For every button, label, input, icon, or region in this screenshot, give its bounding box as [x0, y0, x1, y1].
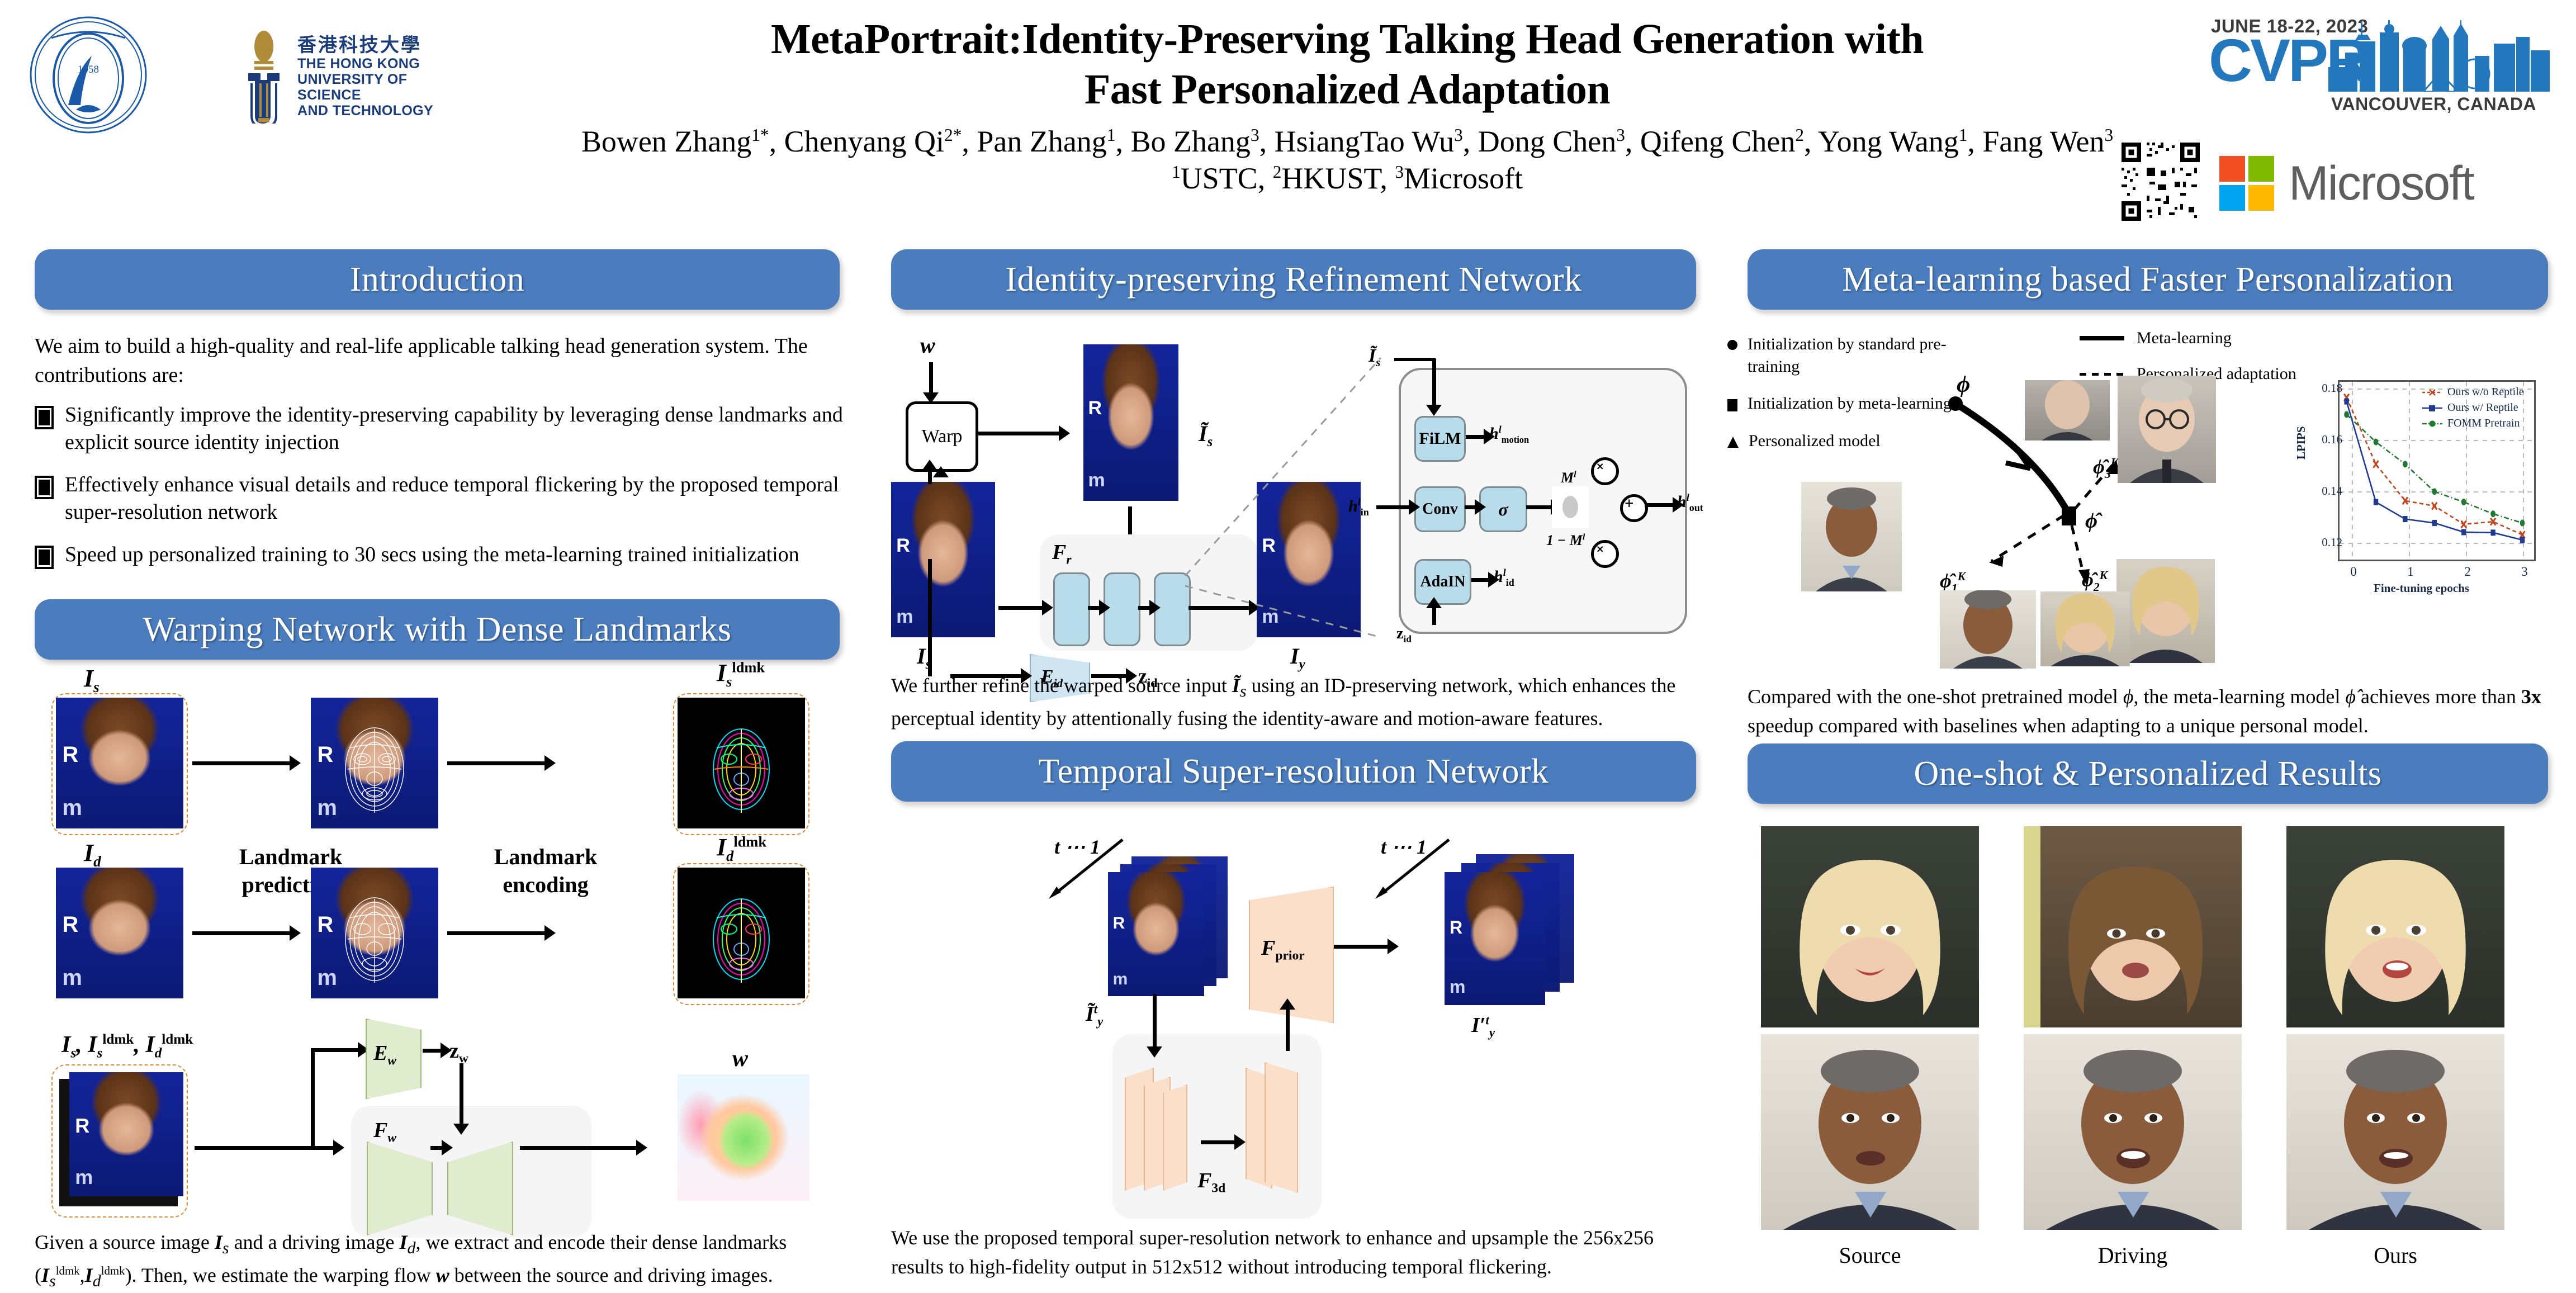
- arrow-F3d-into-Fprior: [1286, 1008, 1290, 1051]
- result-ours-1: [2286, 826, 2504, 1027]
- section-title-introduction-label: Introduction: [350, 260, 525, 300]
- photo-watermark-r: R: [75, 1114, 89, 1138]
- driving-landmark-encoding-image: [678, 868, 805, 998]
- temporal-caption: We use the proposed temporal super-resol…: [891, 1223, 1696, 1281]
- qr-code[interactable]: [2119, 140, 2203, 224]
- lpips-chart: 0.18 0.16 0.14 0.12 LPIPS 0 1 2 3 Fine-t…: [2290, 376, 2539, 595]
- arrow-Fprior-to-output: [1334, 945, 1389, 949]
- label-phi: ϕ: [1957, 371, 1970, 398]
- chart-legend-label-1: Ours w/ Reptile: [2447, 401, 2518, 414]
- arrow-zw-into-decoder: [460, 1063, 463, 1125]
- photo-watermark-r: R: [1450, 917, 1462, 938]
- meta-photo-obama-bottom: [1940, 590, 2036, 669]
- title-block: MetaPortrait:Identity-Preserving Talking…: [537, 15, 2158, 197]
- arrow-source-to-landmark: [192, 761, 291, 765]
- chart-legend-label-0: Ours w/o Reptile: [2447, 386, 2524, 399]
- photo-watermark-m: m: [62, 795, 82, 821]
- sigma-block: σ: [1479, 486, 1527, 532]
- arrow-block2-block3: [1138, 606, 1150, 610]
- warping-label-Is-ldmk: Isldmk: [717, 659, 765, 690]
- microsoft-logo: Microsoft: [2219, 150, 2555, 217]
- source-landmark-overlay-photo: R m: [311, 698, 438, 828]
- detail-label-Is-tilde: Ĩs: [1368, 345, 1380, 370]
- arrow-w-to-warp: [929, 362, 933, 394]
- meta-photo-blonde-right: [2116, 559, 2215, 663]
- hkust-english-line-3: AND TECHNOLOGY: [297, 103, 464, 119]
- affiliation-list: 1USTC, 2HKUST, 3Microsoft: [537, 160, 2158, 197]
- arrow-landmark-to-encoded: [447, 931, 546, 935]
- refine-conv-block-1: [1053, 572, 1090, 646]
- label-Fr: Fr: [1052, 540, 1072, 568]
- output-frame-1: R m: [1445, 872, 1545, 1005]
- list-item: Significantly improve the identity-prese…: [35, 401, 845, 457]
- detail-label-zid: zid: [1396, 625, 1412, 645]
- label-phi-2: ϕ̂2K: [2082, 568, 2108, 594]
- photo-watermark-m: m: [896, 606, 913, 628]
- x-tick-3: 3: [2513, 565, 2536, 579]
- result-obama-source: [1761, 1034, 1979, 1230]
- label-mask-M: Ml: [1561, 470, 1576, 486]
- hkust-english-line-2: UNIVERSITY OF SCIENCE: [297, 72, 464, 103]
- input-stack-front-photo: R m: [69, 1072, 183, 1196]
- label-t-seq-left: t ⋯ 1: [1054, 835, 1100, 859]
- label-one-minus-M: 1 − Ml: [1546, 532, 1585, 549]
- hkust-logo-text: 香港科技大學 THE HONG KONG UNIVERSITY OF SCIEN…: [297, 35, 464, 119]
- chart-legend-item-2: FOMM Pretrain: [2422, 417, 2520, 430]
- chart-legend-item-0: Ours w/o Reptile: [2422, 386, 2524, 399]
- microsoft-squares-icon: [2219, 156, 2274, 211]
- square-bullet-icon: [35, 476, 54, 499]
- section-title-warping-label: Warping Network with Dense Landmarks: [143, 610, 732, 650]
- vancouver-skyline-icon: [2328, 19, 2558, 92]
- arrow-Ew-to-zw: [423, 1049, 442, 1053]
- arrow-film-out: [1466, 435, 1485, 439]
- author-list: Bowen Zhang1*, Chenyang Qi2*, Pan Zhang1…: [537, 124, 2158, 160]
- meta-legend-label-2: Personalized model: [1749, 430, 1881, 452]
- arrow-h-in: [1376, 505, 1410, 509]
- y-tick-0.14: 0.14: [2303, 484, 2342, 498]
- F3d-slab-3: [1163, 1084, 1187, 1191]
- label-t-seq-right: t ⋯ 1: [1381, 835, 1427, 859]
- introduction-paragraph: We aim to build a high-quality and real-…: [35, 332, 840, 390]
- arrow-Is-tilde-into-film: [1432, 359, 1436, 406]
- section-title-refinement: Identity-preserving Refinement Network: [891, 249, 1696, 310]
- label-Fprior: Fprior: [1261, 936, 1305, 964]
- source-landmark-encoding-image: [678, 698, 805, 828]
- circle-marker-icon: [1727, 340, 1737, 350]
- meta-photo-blonde-bottom: [2040, 591, 2130, 666]
- y-axis-label: LPIPS: [2294, 426, 2308, 460]
- x-axis-label: Fine-tuning epochs: [2374, 581, 2469, 595]
- arrow-to-Ew: [311, 1048, 359, 1052]
- label-Ew: Ew: [373, 1041, 396, 1069]
- mask-visualization: [1552, 486, 1589, 528]
- photo-watermark-r: R: [1088, 397, 1102, 419]
- bullet-text: Speed up personalized training to 30 sec…: [65, 541, 799, 569]
- label-zw: zw: [449, 1039, 468, 1067]
- cvpr-city-label: VANCOUVER, CANADA: [2331, 94, 2536, 115]
- colored-landmark-mesh-icon: [678, 698, 805, 828]
- arrow-sigma-mask: [1526, 505, 1552, 509]
- label-phi-3: ϕ̂3K: [2093, 455, 2119, 481]
- arrow-adain-out: [1471, 578, 1489, 582]
- warping-flow-visualization: [678, 1074, 809, 1201]
- meta-photo-obama-left: [1801, 482, 1902, 591]
- x-tick-1: 1: [2399, 565, 2422, 579]
- hkust-logo: 香港科技大學 THE HONG KONG UNIVERSITY OF SCIEN…: [240, 23, 464, 130]
- legend-marker-square-icon: [2422, 404, 2443, 412]
- adain-block: AdaIN: [1414, 559, 1471, 605]
- landmark-encoding-label: Landmark encoding: [479, 843, 613, 899]
- warping-caption: Given a source image Is and a driving im…: [35, 1228, 840, 1293]
- label-Fw: Fw: [373, 1118, 396, 1146]
- label-h-out: hlout: [1677, 492, 1703, 514]
- source-face-photo: R m: [56, 698, 183, 828]
- result-column-label-source: Source: [1761, 1242, 1979, 1268]
- arrow-block1-block2: [1088, 606, 1100, 610]
- hkust-logo-icon: [240, 30, 287, 124]
- warp-operator-block: Warp: [906, 401, 978, 472]
- poster-title-line-2: Fast Personalized Adaptation: [537, 65, 2158, 115]
- zoom-guide-lines: [1174, 335, 1409, 660]
- colored-landmark-mesh-icon: [678, 868, 805, 998]
- label-F3d: F3d: [1197, 1168, 1225, 1196]
- label-h-id: hlid: [1494, 567, 1514, 589]
- poster-title-line-1: MetaPortrait:Identity-Preserving Talking…: [537, 15, 2158, 65]
- arrow-to-flow-output: [520, 1146, 637, 1150]
- poster-root: 1958 香港科技大學 THE HONG KONG UN: [0, 0, 2576, 1288]
- triangle-marker-icon: [1727, 437, 1739, 448]
- introduction-bullet-list: Significantly improve the identity-prese…: [35, 401, 845, 584]
- result-ours-2: [2286, 1034, 2504, 1230]
- legend-marker-x-icon: [2422, 389, 2443, 396]
- hkust-english-line-1: THE HONG KONG: [297, 56, 464, 72]
- legend-marker-circle-icon: [2422, 420, 2443, 428]
- ustc-logo-icon: 1958: [29, 16, 148, 134]
- result-driving-2: [2024, 1034, 2242, 1230]
- photo-watermark-r: R: [896, 535, 910, 557]
- x-tick-0: 0: [2342, 565, 2365, 579]
- section-title-meta-label: Meta-learning based Faster Personalizati…: [1842, 260, 2454, 300]
- label-w-input: w: [920, 332, 935, 358]
- chart-legend-item-1: Ours w/ Reptile: [2422, 401, 2518, 414]
- photo-watermark-m: m: [1450, 977, 1465, 997]
- F3d-slab-5: [1265, 1062, 1298, 1193]
- branch-line-vertical: [311, 1050, 315, 1148]
- warping-label-inputs: Is, Isldmk, Idldmk: [61, 1031, 193, 1061]
- dense-landmark-mesh-icon: [311, 868, 438, 998]
- arrow-landmark-to-encoding: [447, 761, 546, 765]
- cvpr-logo: JUNE 18-22, 2023 CVPR: [2211, 16, 2558, 144]
- warping-label-Is: Is: [84, 664, 100, 696]
- result-driving-1: [2024, 826, 2242, 1027]
- svg-text:1958: 1958: [78, 64, 99, 75]
- label-output-sequence: I′ty: [1471, 1013, 1495, 1040]
- list-item: Effectively enhance visual details and r…: [35, 471, 845, 527]
- label-h-in: hlin: [1348, 496, 1369, 518]
- section-title-temporal-label: Temporal Super-resolution Network: [1038, 752, 1549, 792]
- arrow-driving-to-landmark: [192, 931, 291, 935]
- section-title-results: One-shot & Personalized Results: [1748, 743, 2548, 804]
- section-title-results-label: One-shot & Personalized Results: [1914, 754, 2382, 794]
- warped-source-photo: R m: [1083, 344, 1178, 501]
- source-input-photo-refinement: R m: [891, 482, 995, 637]
- photo-watermark-r: R: [1113, 914, 1125, 933]
- square-marker-icon: [1727, 399, 1737, 411]
- arrow-into-Fr: [998, 606, 1043, 610]
- arrow-zid-into-adain: [1432, 607, 1436, 625]
- multiply-node-bottom: [1591, 540, 1619, 568]
- section-title-refinement-label: Identity-preserving Refinement Network: [1005, 260, 1581, 300]
- line-source-down-branch: [928, 559, 932, 676]
- meta-photo-elder-top: [2025, 380, 2110, 441]
- hkust-chinese-name: 香港科技大學: [297, 35, 464, 56]
- label-warping-flow-w: w: [732, 1045, 748, 1072]
- input-frame-1: R m: [1108, 872, 1204, 996]
- result-column-label-ours: Ours: [2286, 1242, 2504, 1268]
- result-column-label-driving: Driving: [2024, 1242, 2242, 1268]
- conv-block-detail: Conv: [1414, 486, 1466, 532]
- photo-watermark-m: m: [1088, 470, 1105, 491]
- ustc-logo: 1958: [29, 16, 148, 134]
- photo-watermark-m: m: [1113, 970, 1128, 989]
- warping-label-Id: Id: [84, 839, 101, 870]
- photo-watermark-m: m: [62, 965, 82, 991]
- poster-header: 1958 香港科技大學 THE HONG KONG UN: [0, 0, 2576, 235]
- dense-landmark-mesh-icon: [311, 698, 438, 828]
- refinement-caption: We further refine the warped source inpu…: [891, 671, 1696, 733]
- label-h-motion: hlmotion: [1489, 424, 1529, 446]
- y-tick-0.16: 0.16: [2303, 433, 2342, 447]
- label-input-sequence: Ĩty: [1086, 1002, 1103, 1029]
- driving-landmark-overlay-photo: R m: [311, 868, 438, 998]
- section-title-temporal: Temporal Super-resolution Network: [891, 741, 1696, 802]
- multiply-node-top: [1591, 457, 1619, 485]
- y-tick-0.18: 0.18: [2303, 381, 2342, 395]
- label-phi-hat: ϕ̂: [2085, 509, 2097, 533]
- arrow-to-h-out: [1645, 503, 1674, 507]
- bullet-text: Effectively enhance visual details and r…: [65, 471, 845, 527]
- meta-photo-elder-glasses: [2118, 376, 2216, 483]
- list-item: Speed up personalized training to 30 sec…: [35, 541, 845, 569]
- photo-watermark-r: R: [62, 912, 78, 937]
- meta-caption: Compared with the one-shot pretrained mo…: [1748, 682, 2548, 740]
- arrow-warp-to-warped-image: [976, 432, 1060, 435]
- square-bullet-icon: [35, 406, 54, 429]
- microsoft-wordmark: Microsoft: [2289, 159, 2474, 207]
- driving-face-photo: R m: [56, 868, 183, 998]
- chart-legend-label-2: FOMM Pretrain: [2447, 417, 2520, 430]
- photo-watermark-r: R: [62, 742, 78, 768]
- section-title-introduction: Introduction: [35, 249, 840, 310]
- bullet-text: Significantly improve the identity-prese…: [65, 401, 845, 457]
- y-tick-0.12: 0.12: [2303, 536, 2342, 550]
- film-block: FiLM: [1414, 416, 1466, 462]
- warping-label-Id-ldmk: Idldmk: [717, 833, 766, 865]
- x-tick-2: 2: [2456, 565, 2479, 579]
- line-Is-tilde: [1394, 358, 1436, 361]
- arrow-F3d-middle: [1201, 1140, 1235, 1144]
- square-bullet-icon: [35, 546, 54, 569]
- arrow-input-into-F3d: [1153, 994, 1157, 1048]
- section-title-meta: Meta-learning based Faster Personalizati…: [1748, 249, 2548, 310]
- section-title-warping: Warping Network with Dense Landmarks: [35, 599, 840, 660]
- photo-watermark-m: m: [75, 1166, 93, 1189]
- result-marilyn-source: [1761, 826, 1979, 1027]
- arrow-conv-sigma: [1465, 505, 1476, 509]
- add-node: [1620, 494, 1648, 522]
- arrow-between-warp-blocks: [430, 1146, 443, 1150]
